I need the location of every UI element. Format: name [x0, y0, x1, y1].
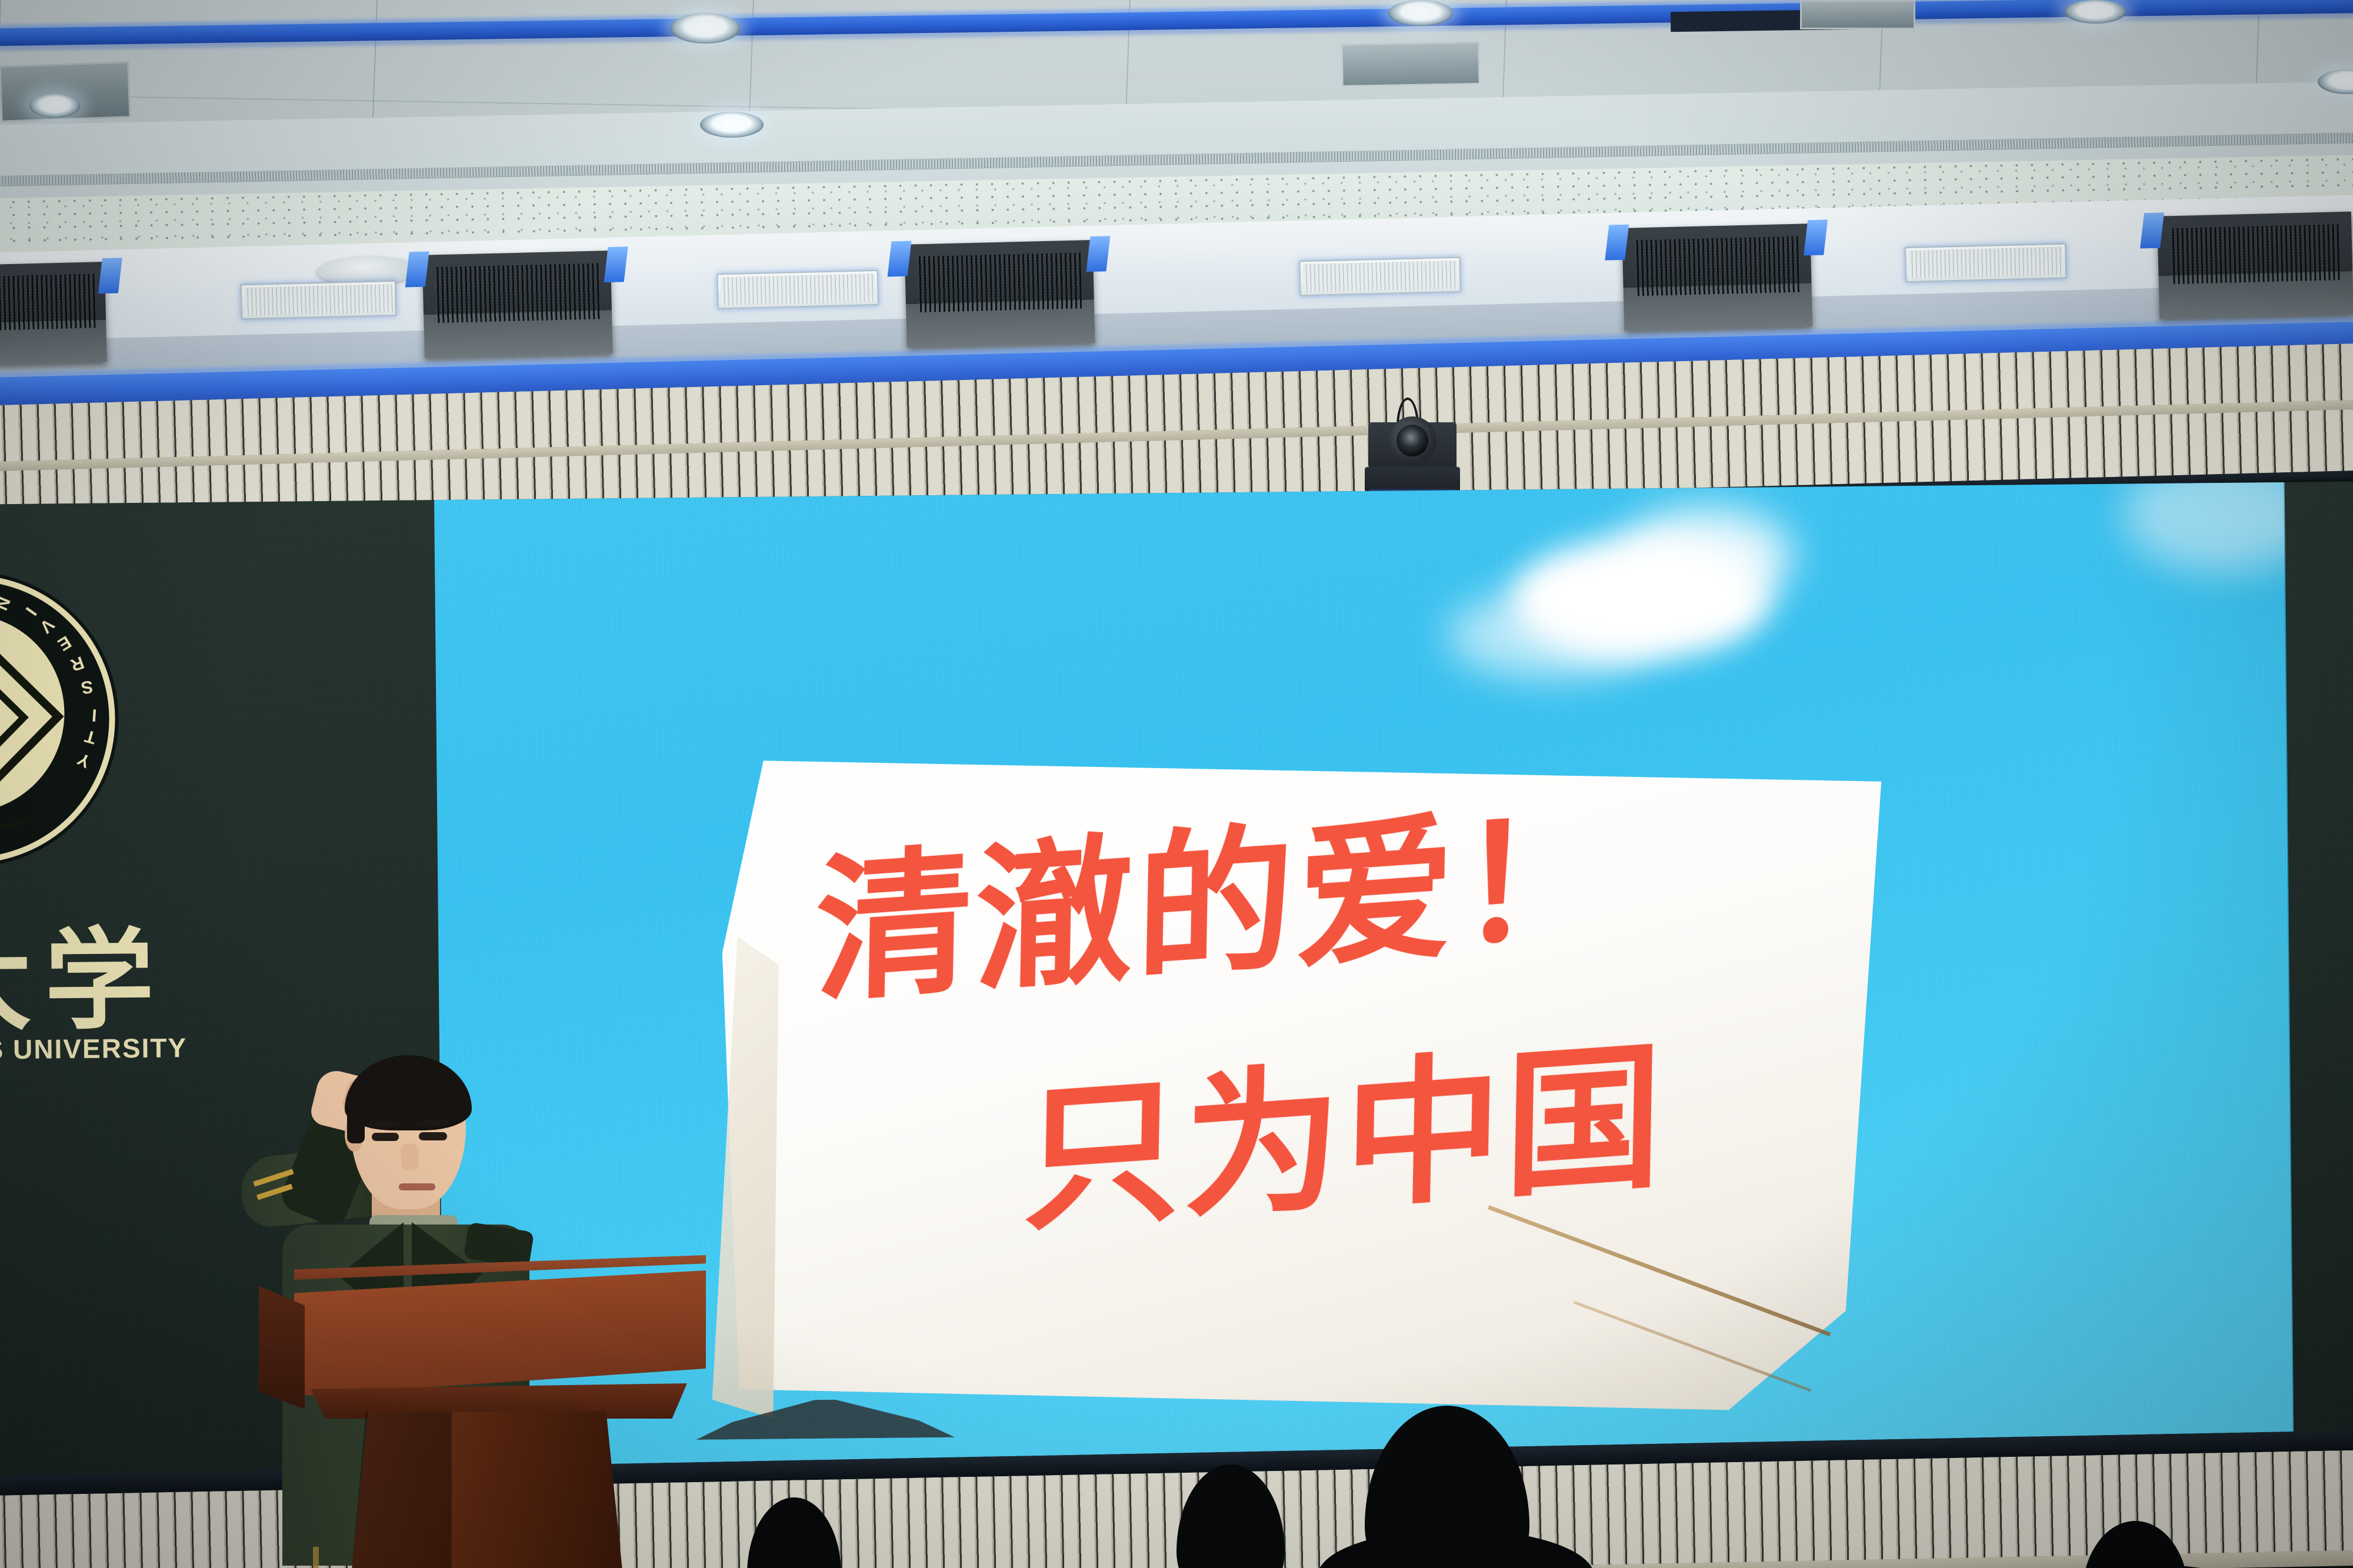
speaker-grille: [1634, 236, 1801, 296]
slide-canvas: 清澈的爱！ 只为中国: [434, 482, 2294, 1493]
ceiling-speaker-box: [1622, 223, 1812, 331]
ceiling-linear-vent: [241, 281, 396, 319]
slide-cloud: [1447, 589, 1659, 679]
ceiling-linear-vent: [1905, 243, 2067, 283]
ceiling-downlight: [1388, 0, 1453, 26]
university-seal: D BUSINESS UNIVERSITY 50 商大学: [0, 573, 116, 865]
audience-shoulders: [1318, 1529, 1594, 1568]
podium-left-side: [259, 1286, 305, 1409]
audience-head: [2082, 1521, 2188, 1568]
speaker-grille: [2169, 224, 2341, 284]
eye-right: [419, 1132, 447, 1140]
ceiling-linear-vent: [717, 270, 879, 309]
auditorium-scene: D BUSINESS UNIVERSITY 50 商大学 商大学 ND BUSI…: [0, 0, 2353, 1568]
mouth: [399, 1183, 435, 1190]
speaker-side-reflector: [98, 258, 122, 293]
seal-ring-letter: Y: [74, 748, 94, 772]
seal-ring-letter: I: [91, 705, 98, 725]
seal-ring-letter: R: [67, 652, 86, 675]
seal-ring-letter: S: [79, 676, 95, 698]
ceiling-air-diffuser: [1341, 41, 1480, 87]
camera-lens: [1397, 425, 1428, 456]
camera-mount-base: [1365, 467, 1460, 492]
seal-ring-letter: N: [0, 593, 14, 613]
speaker-side-reflector: [888, 241, 912, 276]
slide-paper-banner: 清澈的爱！ 只为中国: [719, 749, 1896, 1422]
ceiling-downlight: [2065, 0, 2126, 24]
speaker-side-reflector: [604, 246, 628, 282]
backdrop-university-name-en: ND BUSINESS UNIVERSITY: [0, 1032, 187, 1067]
seal-ring-letter: V: [35, 614, 58, 637]
ceiling-downlight: [29, 94, 80, 118]
speaker-side-reflector: [2140, 212, 2164, 248]
ceiling-speaker-box: [0, 262, 107, 366]
audience-shoulders: [2024, 1564, 2271, 1568]
hair-sideburn: [347, 1106, 365, 1143]
eyebrow-right: [416, 1119, 449, 1127]
ceiling-air-diffuser: [1800, 0, 1915, 29]
seal-ring-letter: E: [54, 631, 75, 655]
nose: [401, 1143, 419, 1170]
speaker-grille: [0, 274, 95, 332]
slide-headline-line-2: 只为中国: [1022, 1037, 1667, 1240]
speaker-side-reflector: [405, 251, 429, 287]
eye-left: [372, 1133, 399, 1141]
seal-ring-letter: I: [21, 603, 40, 619]
speaker-side-reflector: [1605, 225, 1629, 261]
ceiling-linear-vent: [1299, 257, 1461, 296]
ceiling-speaker-box: [904, 240, 1095, 348]
ceiling-downlight: [700, 112, 764, 138]
ceiling-speaker-box: [2157, 212, 2353, 319]
speaker-side-reflector: [1804, 219, 1828, 255]
speaker-grille: [916, 252, 1083, 312]
podium-front-panel: [294, 1270, 706, 1396]
paper-fold-corner: [708, 936, 783, 1419]
backdrop-university-name-cn: 商大学: [0, 891, 168, 1053]
ceiling-downlight: [671, 13, 740, 44]
audience-head: [747, 1497, 841, 1568]
seal-ring-letter: T: [82, 725, 99, 748]
audience-head: [1176, 1464, 1285, 1568]
audience-silhouettes: [0, 1400, 2353, 1568]
ceiling-speaker-box: [422, 251, 613, 358]
speaker-grille: [434, 263, 601, 322]
speaker-side-reflector: [1086, 236, 1110, 272]
slide-cloud: [2122, 482, 2294, 573]
